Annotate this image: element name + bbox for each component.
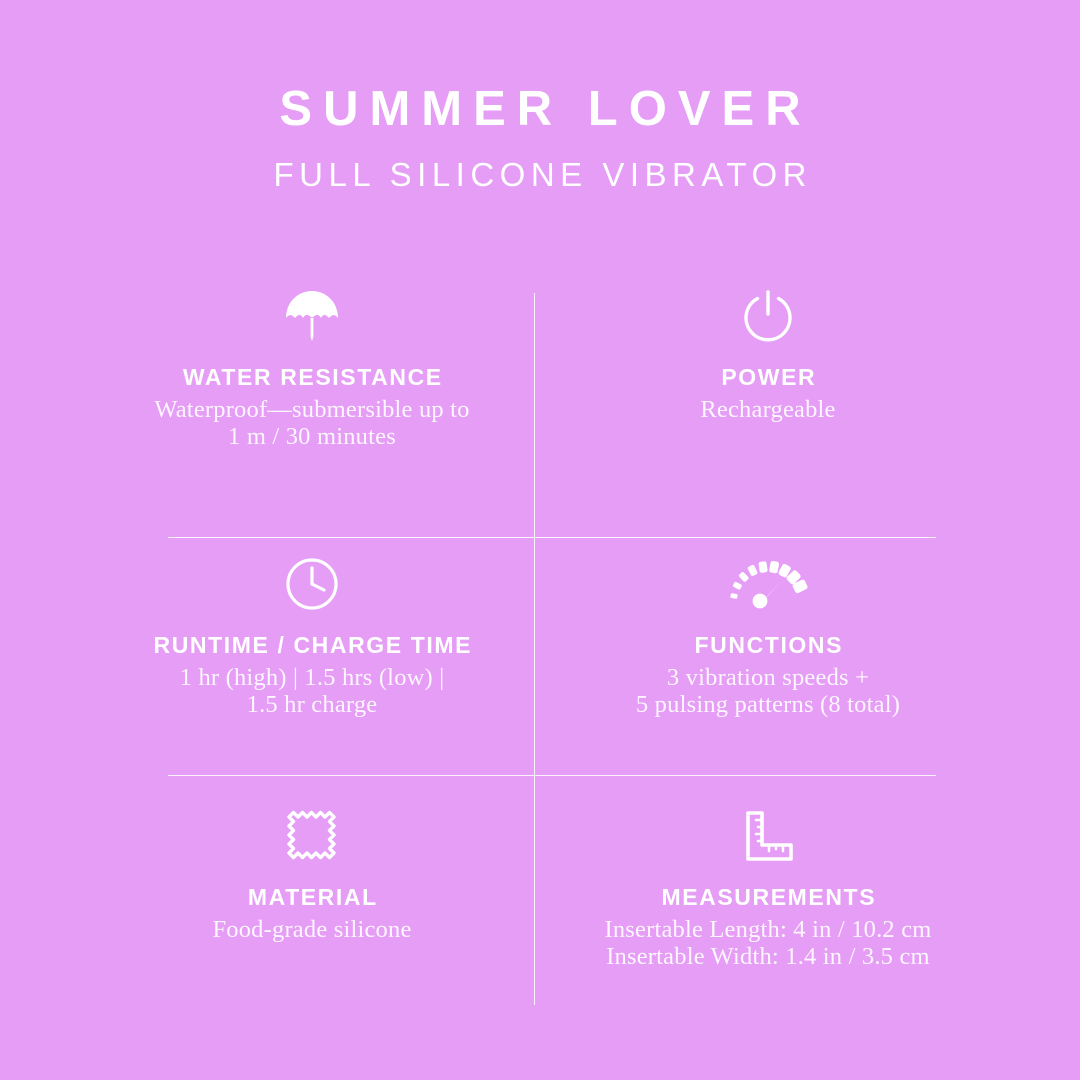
spec-body-line: 1.5 hr charge	[102, 692, 522, 719]
product-spec-sheet: SUMMER LOVER FULL SILICONE VIBRATOR WATE…	[0, 0, 1080, 1080]
divider-vertical	[534, 293, 535, 1005]
spec-cell-functions: FUNCTIONS 3 vibration speeds + 5 pulsing…	[546, 548, 990, 719]
spec-cell-material: MATERIAL Food-grade silicone	[90, 800, 534, 944]
spec-body-line: Waterproof—submersible up to	[102, 397, 522, 424]
spec-cell-measurements: MEASUREMENTS Insertable Length: 4 in / 1…	[546, 800, 990, 971]
clock-icon	[102, 548, 522, 620]
spec-cell-runtime: RUNTIME / CHARGE TIME 1 hr (high) | 1.5 …	[90, 548, 534, 719]
spec-body-line: Food-grade silicone	[102, 917, 522, 944]
spec-body-line: Rechargeable	[558, 397, 978, 424]
gauge-icon	[558, 548, 978, 620]
page-title: SUMMER LOVER	[0, 84, 1080, 135]
spec-cell-power: POWER Rechargeable	[546, 280, 990, 424]
spec-cell-water-resistance: WATER RESISTANCE Waterproof—submersible …	[90, 280, 534, 451]
spec-body: Rechargeable	[558, 397, 978, 424]
spec-title: POWER	[558, 364, 978, 391]
spec-body-line: Insertable Length: 4 in / 10.2 cm	[558, 917, 978, 944]
spec-body: Insertable Length: 4 in / 10.2 cm Insert…	[558, 917, 978, 971]
ruler-square-icon	[558, 800, 978, 872]
umbrella-icon	[102, 280, 522, 352]
divider-horizontal-bottom	[168, 775, 936, 776]
divider-horizontal-top	[168, 537, 936, 538]
spec-title: MEASUREMENTS	[558, 884, 978, 911]
spec-body: Waterproof—submersible up to 1 m / 30 mi…	[102, 397, 522, 451]
spec-title: WATER RESISTANCE	[102, 364, 522, 391]
spec-body: Food-grade silicone	[102, 917, 522, 944]
spec-body-line: Insertable Width: 1.4 in / 3.5 cm	[558, 944, 978, 971]
spec-body: 1 hr (high) | 1.5 hrs (low) | 1.5 hr cha…	[102, 665, 522, 719]
spec-body-line: 1 hr (high) | 1.5 hrs (low) |	[102, 665, 522, 692]
fabric-swatch-icon	[102, 800, 522, 872]
spec-body: 3 vibration speeds + 5 pulsing patterns …	[558, 665, 978, 719]
spec-title: FUNCTIONS	[558, 632, 978, 659]
spec-title: RUNTIME / CHARGE TIME	[102, 632, 522, 659]
spec-body-line: 5 pulsing patterns (8 total)	[558, 692, 978, 719]
power-icon	[558, 280, 978, 352]
spec-grid: WATER RESISTANCE Waterproof—submersible …	[90, 280, 990, 1010]
spec-body-line: 3 vibration speeds +	[558, 665, 978, 692]
header: SUMMER LOVER FULL SILICONE VIBRATOR	[0, 84, 1080, 194]
spec-body-line: 1 m / 30 minutes	[102, 424, 522, 451]
spec-title: MATERIAL	[102, 884, 522, 911]
page-subtitle: FULL SILICONE VIBRATOR	[0, 157, 1080, 193]
